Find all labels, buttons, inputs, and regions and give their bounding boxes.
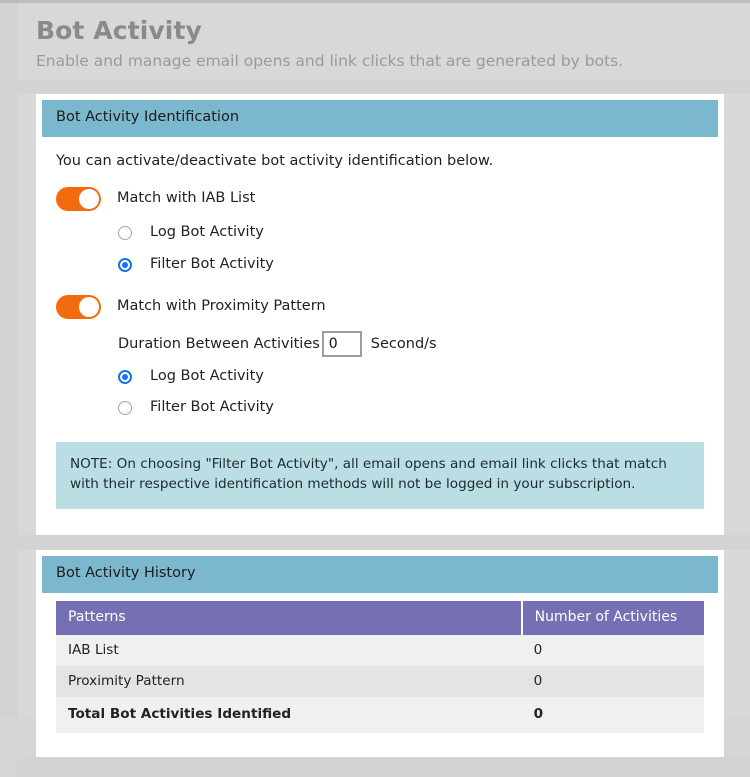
identification-section-header: Bot Activity Identification <box>42 100 718 137</box>
match-with-iab-list-toggle[interactable] <box>56 187 101 211</box>
column-header-number-of-activities: Number of Activities <box>522 601 704 635</box>
card-gap <box>18 535 750 550</box>
bottom-fill <box>18 757 750 777</box>
cell-activity-count: 0 <box>522 635 704 666</box>
cell-activity-count: 0 <box>522 666 704 697</box>
left-gutter <box>0 3 18 717</box>
page-title: Bot Activity <box>36 17 750 46</box>
proximity-option-log-label: Log Bot Activity <box>150 369 264 385</box>
cell-total-label: Total Bot Activities Identified <box>56 697 522 733</box>
history-table-wrap: Patterns Number of Activities IAB List 0… <box>42 593 718 751</box>
column-header-patterns: Patterns <box>56 601 522 635</box>
toggle-knob-icon <box>79 297 99 317</box>
proximity-option-filter-row[interactable]: Filter Bot Activity <box>118 392 704 424</box>
table-row: Proximity Pattern 0 <box>56 666 704 697</box>
iab-option-filter-row[interactable]: Filter Bot Activity <box>118 249 704 281</box>
radio-unchecked-icon[interactable] <box>118 226 132 240</box>
iab-option-filter-label: Filter Bot Activity <box>150 257 274 273</box>
match-with-proximity-pattern-label: Match with Proximity Pattern <box>117 299 326 315</box>
header-spacer <box>18 80 750 94</box>
match-with-iab-list-label: Match with IAB List <box>117 191 255 207</box>
table-head: Patterns Number of Activities <box>56 601 704 635</box>
history-section-header: Bot Activity History <box>42 556 718 593</box>
match-with-proximity-pattern-toggle[interactable] <box>56 295 101 319</box>
table-body: IAB List 0 Proximity Pattern 0 Total Bot… <box>56 635 704 733</box>
table-row-total: Total Bot Activities Identified 0 <box>56 697 704 733</box>
page-header: Bot Activity Enable and manage email ope… <box>18 3 750 80</box>
duration-between-activities-label: Duration Between Activities <box>118 336 320 352</box>
duration-unit-label: Second/s <box>371 336 437 352</box>
radio-unchecked-icon[interactable] <box>118 401 132 415</box>
radio-checked-icon[interactable] <box>118 370 132 384</box>
cell-pattern-name: Proximity Pattern <box>56 666 522 697</box>
iab-option-log-label: Log Bot Activity <box>150 225 264 241</box>
page-subtitle: Enable and manage email opens and link c… <box>36 52 750 71</box>
note-callout: NOTE: On choosing "Filter Bot Activity",… <box>56 442 704 508</box>
duration-between-activities-row: Duration Between Activities Second/s <box>118 325 704 361</box>
proximity-option-log-row[interactable]: Log Bot Activity <box>118 361 704 393</box>
table-row: IAB List 0 <box>56 635 704 666</box>
proximity-toggle-row: Match with Proximity Pattern <box>56 295 704 319</box>
page-container: Bot Activity Enable and manage email ope… <box>18 3 750 717</box>
bot-activity-history-table: Patterns Number of Activities IAB List 0… <box>56 601 704 733</box>
cell-pattern-name: IAB List <box>56 635 522 666</box>
cell-total-count: 0 <box>522 697 704 733</box>
toggle-knob-icon <box>79 189 99 209</box>
duration-between-activities-input[interactable] <box>322 331 362 357</box>
bot-activity-identification-card: Bot Activity Identification You can acti… <box>36 94 724 534</box>
identification-intro-text: You can activate/deactivate bot activity… <box>56 153 704 170</box>
bot-activity-history-card: Bot Activity History Patterns Number of … <box>36 550 724 757</box>
table-header-row: Patterns Number of Activities <box>56 601 704 635</box>
identification-section-body: You can activate/deactivate bot activity… <box>42 137 718 527</box>
radio-checked-icon[interactable] <box>118 258 132 272</box>
iab-option-log-row[interactable]: Log Bot Activity <box>118 217 704 249</box>
iab-toggle-row: Match with IAB List <box>56 187 704 211</box>
proximity-option-filter-label: Filter Bot Activity <box>150 400 274 416</box>
